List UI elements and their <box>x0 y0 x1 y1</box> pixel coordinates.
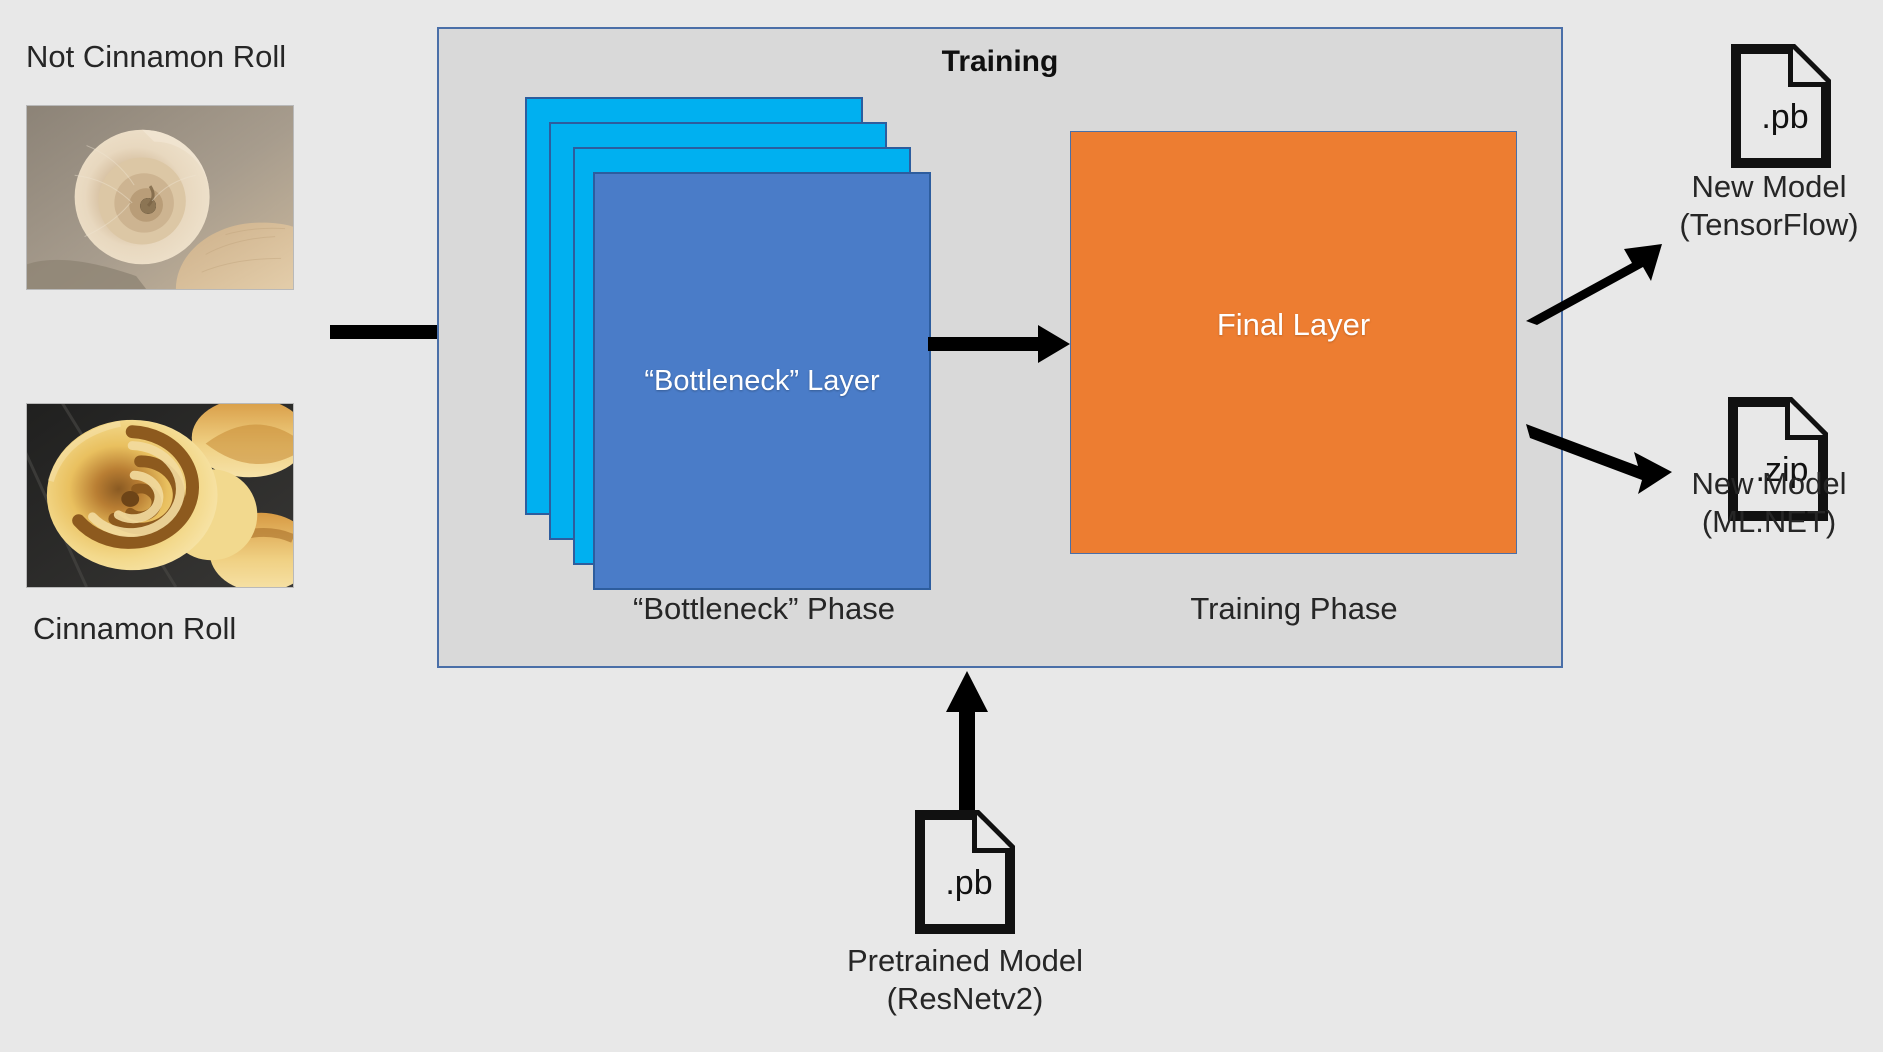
input-image-not-cinnamon-roll <box>26 105 294 290</box>
input-caption-cinnamon-roll: Cinnamon Roll <box>33 610 236 648</box>
output-label-mlnet-line1: New Model <box>1655 465 1883 503</box>
file-icon-pb-pretrained: .pb <box>915 810 1015 934</box>
final-layer-box: Final Layer <box>1070 131 1517 554</box>
training-phase-caption: Training Phase <box>1129 591 1459 627</box>
pretrained-model-label: Pretrained Model (ResNetv2) <box>795 942 1135 1018</box>
output-label-tensorflow: New Model (TensorFlow) <box>1655 168 1883 244</box>
file-extension-text: .pb <box>1761 98 1808 136</box>
bottleneck-layer-sheet-1: “Bottleneck” Layer <box>593 172 931 590</box>
bottleneck-layer-label: “Bottleneck” Layer <box>644 365 879 398</box>
input-caption-not-cinnamon-roll: Not Cinnamon Roll <box>26 38 286 76</box>
pretrained-model-label-line2: (ResNetv2) <box>795 980 1135 1018</box>
output-label-tensorflow-line1: New Model <box>1655 168 1883 206</box>
final-layer-label: Final Layer <box>1071 307 1516 343</box>
output-label-mlnet-line2: (ML.NET) <box>1655 503 1883 541</box>
pretrained-model-label-line1: Pretrained Model <box>795 942 1135 980</box>
input-image-cinnamon-roll <box>26 403 294 588</box>
bottleneck-phase-caption: “Bottleneck” Phase <box>599 591 929 627</box>
arrow-bottleneck-to-final <box>928 317 1074 371</box>
output-label-mlnet: New Model (ML.NET) <box>1655 465 1883 541</box>
output-label-tensorflow-line2: (TensorFlow) <box>1655 206 1883 244</box>
arrow-pretrained-to-training <box>940 668 994 814</box>
training-title: Training <box>439 45 1561 79</box>
diagram-canvas: Not Cinnamon Roll <box>0 0 1883 1052</box>
file-extension-text: .pb <box>945 864 992 902</box>
file-icon-pb-tensorflow: .pb <box>1731 44 1831 168</box>
training-container: Training “Bottleneck” Layer Final Layer … <box>437 27 1563 668</box>
